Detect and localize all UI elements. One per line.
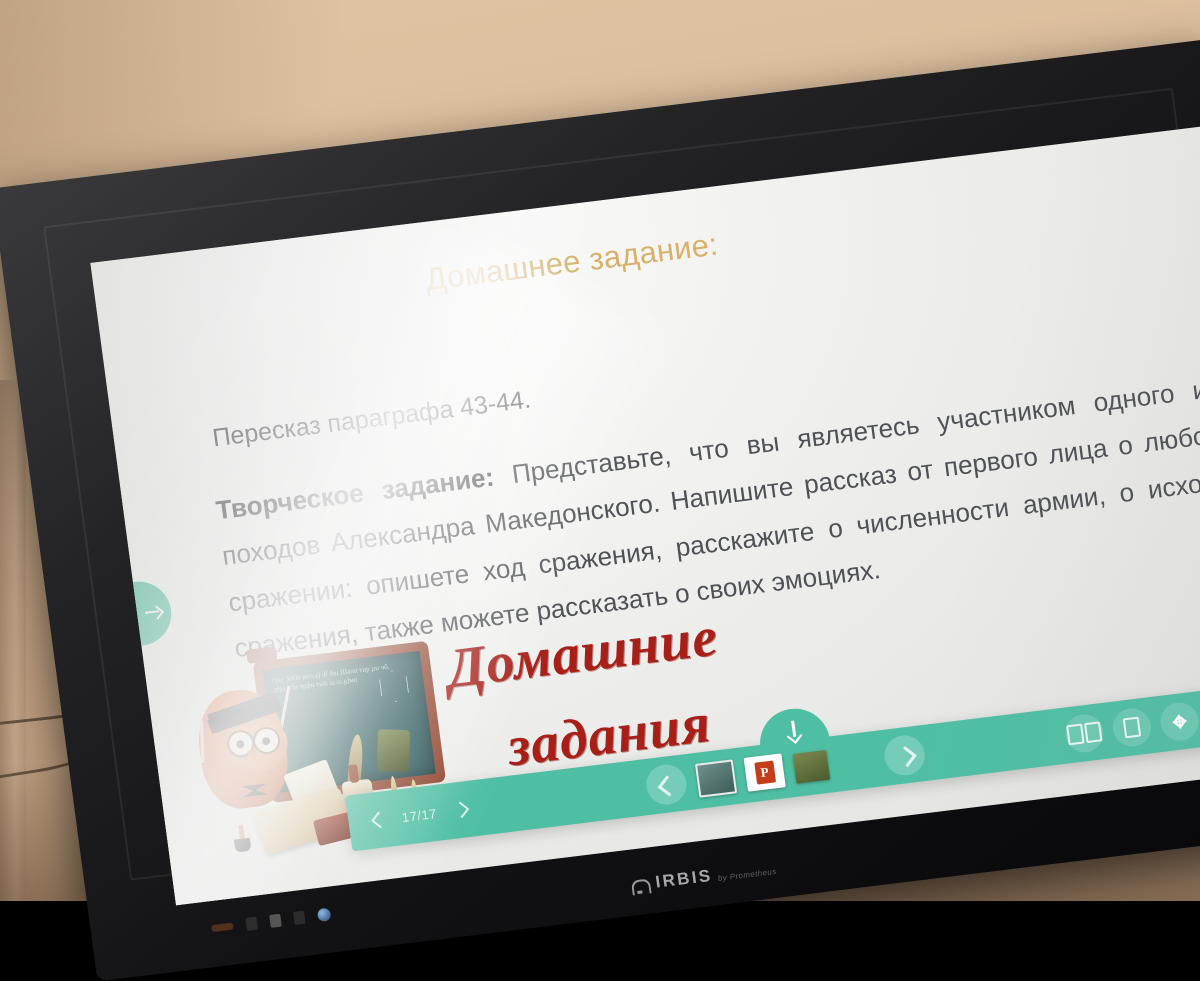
slide-thumbnail-1[interactable] [695, 759, 737, 797]
pan-tool-button[interactable] [1158, 700, 1200, 742]
two-page-view-button[interactable] [1063, 712, 1106, 754]
arrow-right-icon [144, 604, 164, 620]
brand-subtitle: by Prometheus [717, 867, 777, 883]
single-page-view-icon [1123, 717, 1142, 739]
next-slide-button[interactable] [882, 733, 927, 778]
cap-tassel [200, 721, 204, 763]
single-page-view-button[interactable] [1111, 706, 1154, 748]
owl-beak [246, 750, 259, 762]
two-page-view-icon [1066, 721, 1102, 745]
display-bezel: Домашнее задание: Пересказ параграфа 43-… [0, 39, 1200, 981]
slide-title: Домашнее задание: [423, 227, 720, 299]
chevron-left-icon [653, 771, 680, 798]
owl-mascot [193, 685, 294, 812]
chalkboard-scribble: Оде 36Ое иол ±∫ df бш Шали тир µи чб, дf… [272, 662, 393, 694]
slide-paragraph-1: Пересказ параграфа 43-44. [211, 385, 533, 453]
owl-shoe-left [234, 838, 252, 853]
next-page-button[interactable] [449, 799, 471, 821]
owl-bowtie [241, 783, 268, 797]
irbis-logo-mark [631, 878, 652, 895]
interactive-whiteboard: Домашнее задание: Пересказ параграфа 43-… [0, 0, 1200, 901]
powerpoint-file-thumbnail[interactable]: P [744, 753, 786, 791]
pan-icon [1167, 709, 1192, 733]
prev-slide-button[interactable] [644, 762, 689, 807]
slide-thumbnail-3[interactable] [792, 750, 830, 784]
powerpoint-icon: P [754, 761, 776, 785]
chevron-right-icon [891, 742, 918, 769]
brand-name: IRBIS [654, 866, 714, 893]
page-counter: 17/17 [397, 805, 441, 825]
prev-page-button[interactable] [367, 809, 389, 831]
